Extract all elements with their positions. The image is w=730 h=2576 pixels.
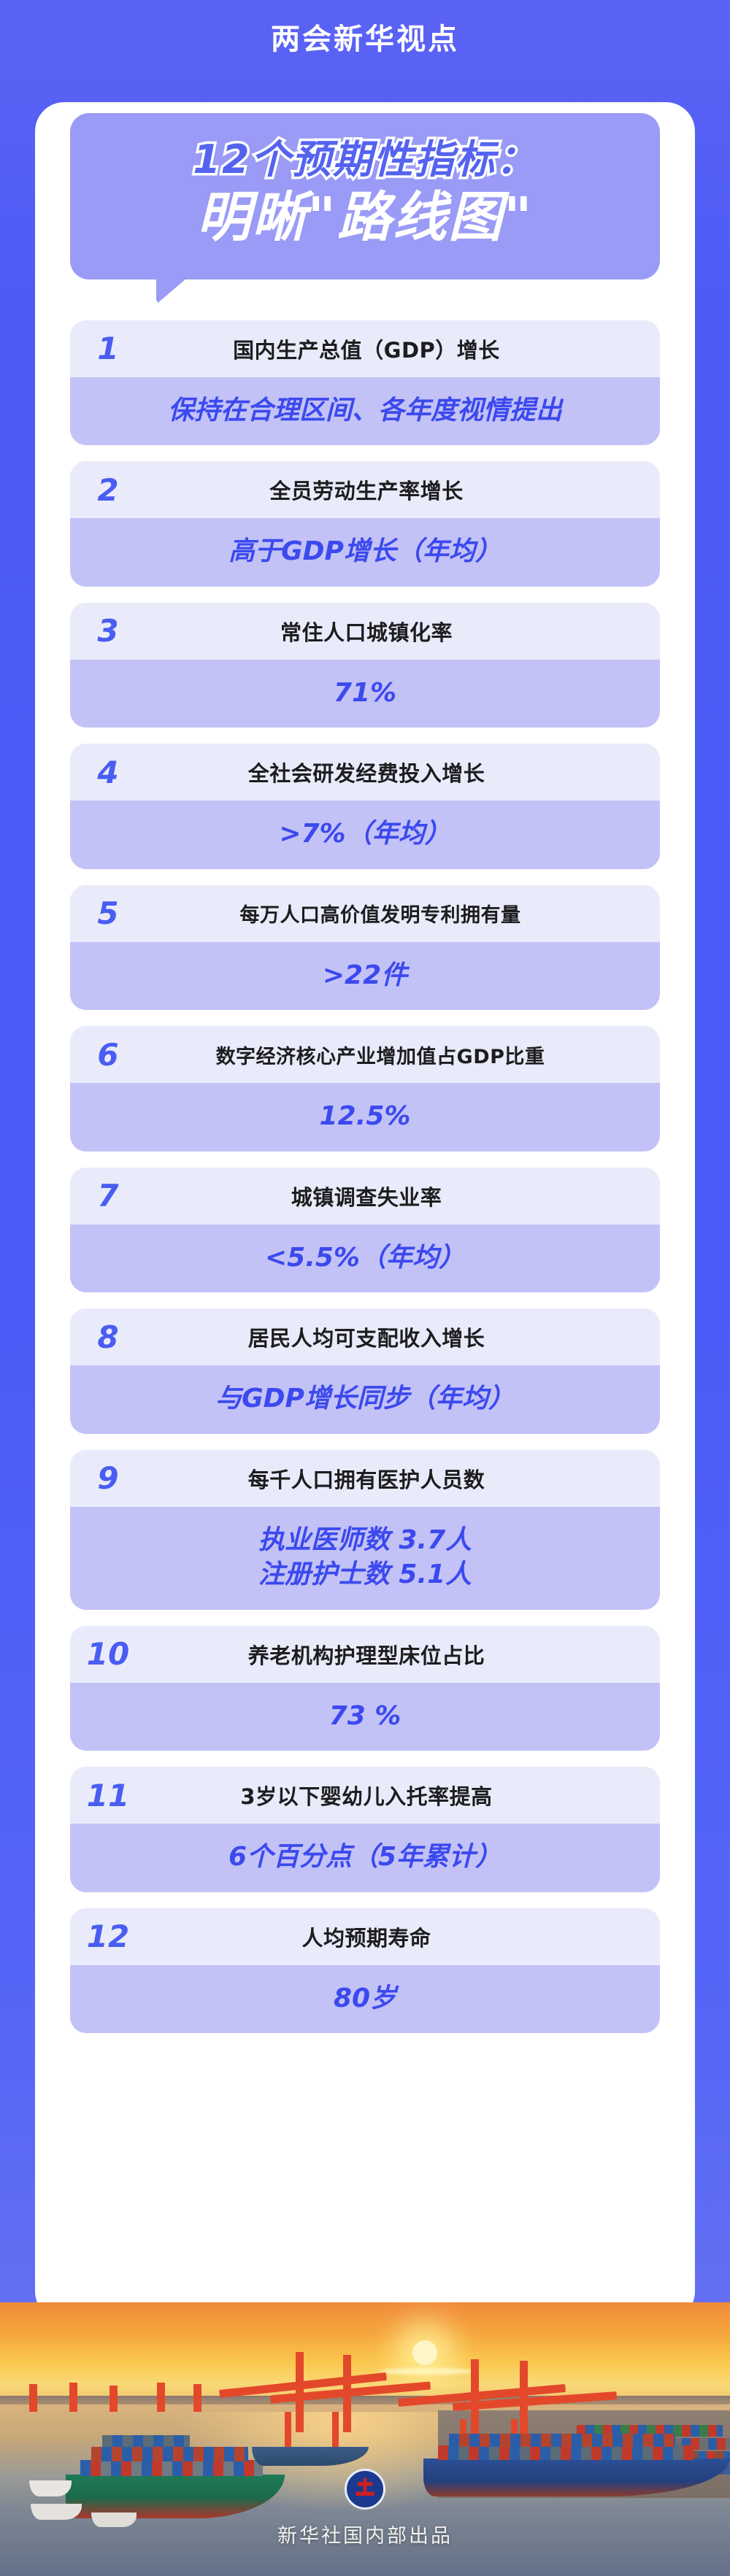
brand-header: 两会新华视点 bbox=[0, 0, 730, 73]
indicator-card-header: 10养老机构护理型床位占比 bbox=[70, 1626, 660, 1683]
background-crane-icon bbox=[109, 2386, 118, 2412]
indicator-value-line: <5.5%（年均） bbox=[82, 1241, 648, 1276]
indicator-value: 执业医师数 3.7人注册护士数 5.1人 bbox=[70, 1507, 660, 1610]
indicator-value-line: 与GDP增长同步（年均） bbox=[82, 1381, 648, 1416]
indicator-value-line: 80岁 bbox=[82, 1981, 648, 2016]
indicator-card-header: 7城镇调查失业率 bbox=[70, 1168, 660, 1225]
indicator-value: >22件 bbox=[70, 942, 660, 1011]
indicator-label: 每万人口高价值发明专利拥有量 bbox=[136, 899, 647, 928]
indicator-card-header: 9每千人口拥有医护人员数 bbox=[70, 1450, 660, 1507]
indicator-card-header: 3常住人口城镇化率 bbox=[70, 603, 660, 660]
indicator-value-line: 71% bbox=[82, 676, 648, 711]
indicator-number: 11 bbox=[80, 1778, 136, 1813]
indicator-value: >7%（年均） bbox=[70, 801, 660, 869]
indicator-card: 9每千人口拥有医护人员数执业医师数 3.7人注册护士数 5.1人 bbox=[70, 1450, 660, 1610]
indicator-label: 国内生产总值（GDP）增长 bbox=[136, 333, 647, 364]
container-stack bbox=[449, 2434, 675, 2447]
title-bubble: 12个预期性指标： 明晰"路线图" bbox=[70, 113, 660, 279]
indicator-card: 7城镇调查失业率<5.5%（年均） bbox=[70, 1168, 660, 1293]
container-stack bbox=[438, 2445, 693, 2460]
indicator-label: 常住人口城镇化率 bbox=[136, 616, 647, 647]
title-line-2: 明晰"路线图" bbox=[85, 186, 645, 250]
indicator-label: 数字经济核心产业增加值占GDP比重 bbox=[136, 1041, 647, 1069]
indicator-card-list: 1国内生产总值（GDP）增长保持在合理区间、各年度视情提出2全员劳动生产率增长高… bbox=[70, 320, 660, 2041]
indicator-value-line: 注册护士数 5.1人 bbox=[82, 1557, 648, 1592]
container-stack bbox=[102, 2435, 190, 2447]
indicator-card: 5每万人口高价值发明专利拥有量>22件 bbox=[70, 885, 660, 1011]
indicator-card: 113岁以下婴幼儿入托率提高6个百分点（5年累计） bbox=[70, 1767, 660, 1892]
indicator-value-line: 73 % bbox=[82, 1699, 648, 1734]
indicator-value-line: >7%（年均） bbox=[82, 817, 648, 852]
indicator-card-header: 5每万人口高价值发明专利拥有量 bbox=[70, 885, 660, 942]
indicator-number: 12 bbox=[80, 1918, 136, 1954]
indicator-label: 城镇调查失业率 bbox=[136, 1181, 647, 1211]
indicator-value-line: 执业医师数 3.7人 bbox=[82, 1523, 648, 1558]
tugboat bbox=[31, 2504, 82, 2520]
indicator-value: 80岁 bbox=[70, 1965, 660, 2034]
indicator-value: 6个百分点（5年累计） bbox=[70, 1824, 660, 1892]
indicator-label: 全员劳动生产率增长 bbox=[136, 474, 647, 505]
indicator-card: 1国内生产总值（GDP）增长保持在合理区间、各年度视情提出 bbox=[70, 320, 660, 446]
indicator-card: 12人均预期寿命80岁 bbox=[70, 1908, 660, 2034]
tugboat bbox=[29, 2480, 72, 2496]
indicator-value-line: >22件 bbox=[82, 958, 648, 993]
footer-credit: 新华社国内部出品 bbox=[0, 2520, 730, 2548]
xinhua-logo-glyph bbox=[354, 2478, 376, 2500]
indicator-card-header: 4全社会研发经费投入增长 bbox=[70, 744, 660, 801]
indicator-label: 居民人均可支配收入增长 bbox=[136, 1322, 647, 1352]
port-sunset-photo: 新华社国内部出品 bbox=[0, 2302, 730, 2576]
indicator-card-header: 1国内生产总值（GDP）增长 bbox=[70, 320, 660, 377]
indicator-value: 12.5% bbox=[70, 1083, 660, 1152]
indicator-number: 6 bbox=[80, 1037, 136, 1073]
indicator-number: 5 bbox=[80, 895, 136, 931]
indicator-number: 10 bbox=[80, 1636, 136, 1672]
indicator-value-line: 保持在合理区间、各年度视情提出 bbox=[82, 393, 648, 428]
indicator-card-header: 6数字经济核心产业增加值占GDP比重 bbox=[70, 1026, 660, 1083]
indicator-value: 71% bbox=[70, 660, 660, 728]
background-crane-icon bbox=[193, 2384, 201, 2412]
brand-title: 两会新华视点 bbox=[271, 15, 459, 58]
indicator-card-header: 8居民人均可支配收入增长 bbox=[70, 1308, 660, 1365]
indicator-card: 3常住人口城镇化率71% bbox=[70, 603, 660, 728]
indicator-value-line: 高于GDP增长（年均） bbox=[82, 534, 648, 569]
indicator-number: 1 bbox=[80, 331, 136, 366]
indicator-label: 3岁以下婴幼儿入托率提高 bbox=[136, 1780, 647, 1810]
indicator-value: 73 % bbox=[70, 1683, 660, 1751]
title-bubble-wrapper: 12个预期性指标： 明晰"路线图" bbox=[70, 113, 660, 279]
indicator-value-line: 6个百分点（5年累计） bbox=[82, 1840, 648, 1875]
container-stack bbox=[80, 2460, 263, 2476]
background-crane-icon bbox=[157, 2383, 165, 2412]
indicator-value: 与GDP增长同步（年均） bbox=[70, 1365, 660, 1434]
indicator-card-header: 12人均预期寿命 bbox=[70, 1908, 660, 1965]
infographic-content: 12个预期性指标： 明晰"路线图" 1国内生产总值（GDP）增长保持在合理区间、… bbox=[35, 113, 695, 2040]
background-crane-icon bbox=[29, 2384, 37, 2412]
indicator-number: 9 bbox=[80, 1460, 136, 1496]
indicator-label: 人均预期寿命 bbox=[136, 1921, 647, 1952]
indicator-label: 全社会研发经费投入增长 bbox=[136, 757, 647, 787]
title-line-1: 12个预期性指标： bbox=[85, 138, 645, 182]
indicator-value: 保持在合理区间、各年度视情提出 bbox=[70, 377, 660, 446]
indicator-card-header: 113岁以下婴幼儿入托率提高 bbox=[70, 1767, 660, 1824]
indicator-card: 6数字经济核心产业增加值占GDP比重12.5% bbox=[70, 1026, 660, 1152]
indicator-number: 2 bbox=[80, 472, 136, 508]
indicator-value: <5.5%（年均） bbox=[70, 1225, 660, 1293]
indicator-number: 3 bbox=[80, 613, 136, 649]
indicator-number: 8 bbox=[80, 1319, 136, 1355]
indicator-number: 7 bbox=[80, 1178, 136, 1214]
indicator-card: 10养老机构护理型床位占比73 % bbox=[70, 1626, 660, 1751]
indicator-value: 高于GDP增长（年均） bbox=[70, 518, 660, 587]
indicator-card: 2全员劳动生产率增长高于GDP增长（年均） bbox=[70, 461, 660, 587]
indicator-label: 每千人口拥有医护人员数 bbox=[136, 1463, 647, 1494]
sun-icon bbox=[412, 2340, 437, 2365]
indicator-card: 4全社会研发经费投入增长>7%（年均） bbox=[70, 744, 660, 869]
background-crane-icon bbox=[69, 2383, 77, 2412]
xinhua-logo bbox=[345, 2469, 385, 2510]
indicator-card: 8居民人均可支配收入增长与GDP增长同步（年均） bbox=[70, 1308, 660, 1434]
indicator-number: 4 bbox=[80, 755, 136, 790]
indicator-card-header: 2全员劳动生产率增长 bbox=[70, 461, 660, 518]
container-stack bbox=[91, 2447, 248, 2461]
indicator-value-line: 12.5% bbox=[82, 1099, 648, 1134]
speech-bubble-tail bbox=[156, 278, 187, 304]
sun-reflection-strip bbox=[380, 2368, 474, 2375]
indicator-label: 养老机构护理型床位占比 bbox=[136, 1639, 647, 1670]
